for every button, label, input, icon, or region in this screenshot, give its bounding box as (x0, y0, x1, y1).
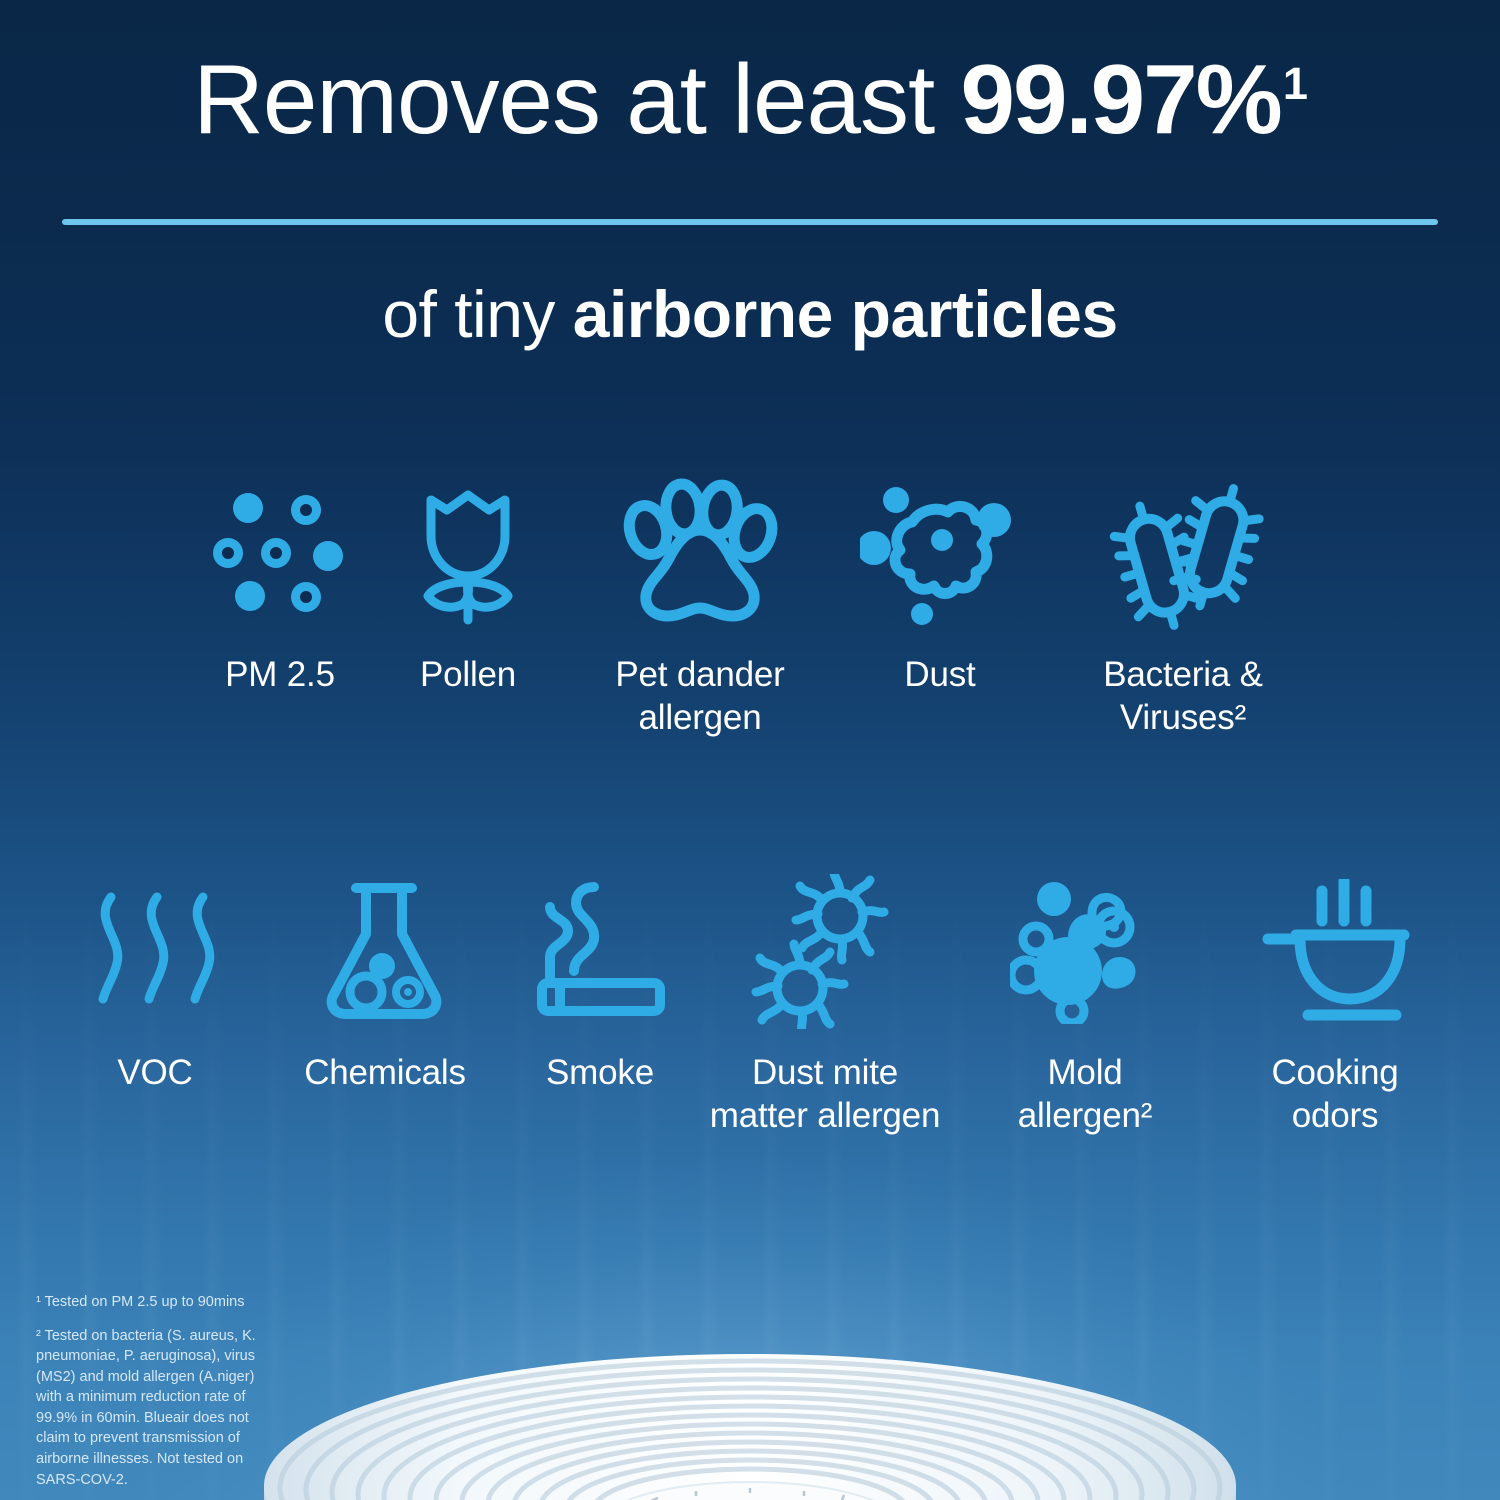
feature-label: Dust (840, 654, 1040, 697)
feature-label: Pet dander allergen (580, 654, 820, 739)
cooking-pan-icon (1230, 866, 1440, 1036)
feature-label-line1: Pollen (368, 654, 568, 697)
feature-smoke: Smoke (500, 866, 700, 1095)
title-divider (62, 219, 1438, 225)
feature-chemicals: Chemicals (285, 866, 485, 1095)
feature-label-line1: Dust mite (690, 1052, 960, 1095)
feature-dust: Dust (840, 468, 1040, 697)
feature-label-line2: allergen (580, 697, 820, 740)
feature-label-line2: odors (1230, 1095, 1440, 1138)
headline-footnote-marker: 1 (1283, 58, 1307, 109)
feature-label: Smoke (500, 1052, 700, 1095)
air-purifier-product (226, 1276, 1274, 1500)
subhead-normal-text: of tiny (382, 277, 572, 351)
feature-label-line2: allergen² (975, 1095, 1195, 1138)
feature-label: Mold allergen² (975, 1052, 1195, 1137)
feature-mold-allergen: Mold allergen² (975, 866, 1195, 1137)
feature-dust-mite: Dust mite matter allergen (690, 866, 960, 1137)
feature-label-line1: Cooking (1230, 1052, 1440, 1095)
page-subtitle: of tiny airborne particles (0, 278, 1500, 351)
feature-label: Cooking odors (1230, 1052, 1440, 1137)
pm25-dots-icon (180, 468, 380, 638)
feature-label-line1: PM 2.5 (180, 654, 380, 697)
voc-waves-icon (55, 866, 255, 1036)
dust-cloud-icon (840, 468, 1040, 638)
pollen-flower-icon (368, 468, 568, 638)
feature-cooking-odors: Cooking odors (1230, 866, 1440, 1137)
feature-label-line1: Bacteria & (1063, 654, 1303, 697)
feature-label-line1: VOC (55, 1052, 255, 1095)
feature-label: VOC (55, 1052, 255, 1095)
mold-spores-icon (975, 866, 1195, 1036)
pet-paw-icon (580, 468, 820, 638)
feature-pet-dander: Pet dander allergen (580, 468, 820, 739)
feature-label: Bacteria & Viruses² (1063, 654, 1303, 739)
smoke-cigarette-icon (500, 866, 700, 1036)
feature-label-line2: Viruses² (1063, 697, 1303, 740)
feature-bacteria-viruses: Bacteria & Viruses² (1063, 468, 1303, 739)
dust-mite-icon (690, 866, 960, 1036)
headline-normal-text: Removes at least (193, 44, 960, 154)
page-title: Removes at least 99.97%1 (0, 48, 1500, 152)
feature-label: Dust mite matter allergen (690, 1052, 960, 1137)
chemicals-flask-icon (285, 866, 485, 1036)
infographic-canvas: Removes at least 99.97%1 of tiny airborn… (0, 0, 1500, 1500)
feature-label-line1: Smoke (500, 1052, 700, 1095)
feature-label: Chemicals (285, 1052, 485, 1095)
feature-pm25: PM 2.5 (180, 468, 380, 697)
feature-label-line2: matter allergen (690, 1095, 960, 1138)
feature-label-line1: Dust (840, 654, 1040, 697)
feature-label-line1: Chemicals (285, 1052, 485, 1095)
headline-percentage: 99.97% (960, 44, 1280, 154)
bacteria-virus-icon (1063, 468, 1303, 638)
feature-pollen: Pollen (368, 468, 568, 697)
feature-label: PM 2.5 (180, 654, 380, 697)
feature-label-line1: Mold (975, 1052, 1195, 1095)
feature-voc: VOC (55, 866, 255, 1095)
feature-label: Pollen (368, 654, 568, 697)
subhead-bold-text: airborne particles (573, 277, 1118, 351)
feature-label-line1: Pet dander (580, 654, 820, 697)
